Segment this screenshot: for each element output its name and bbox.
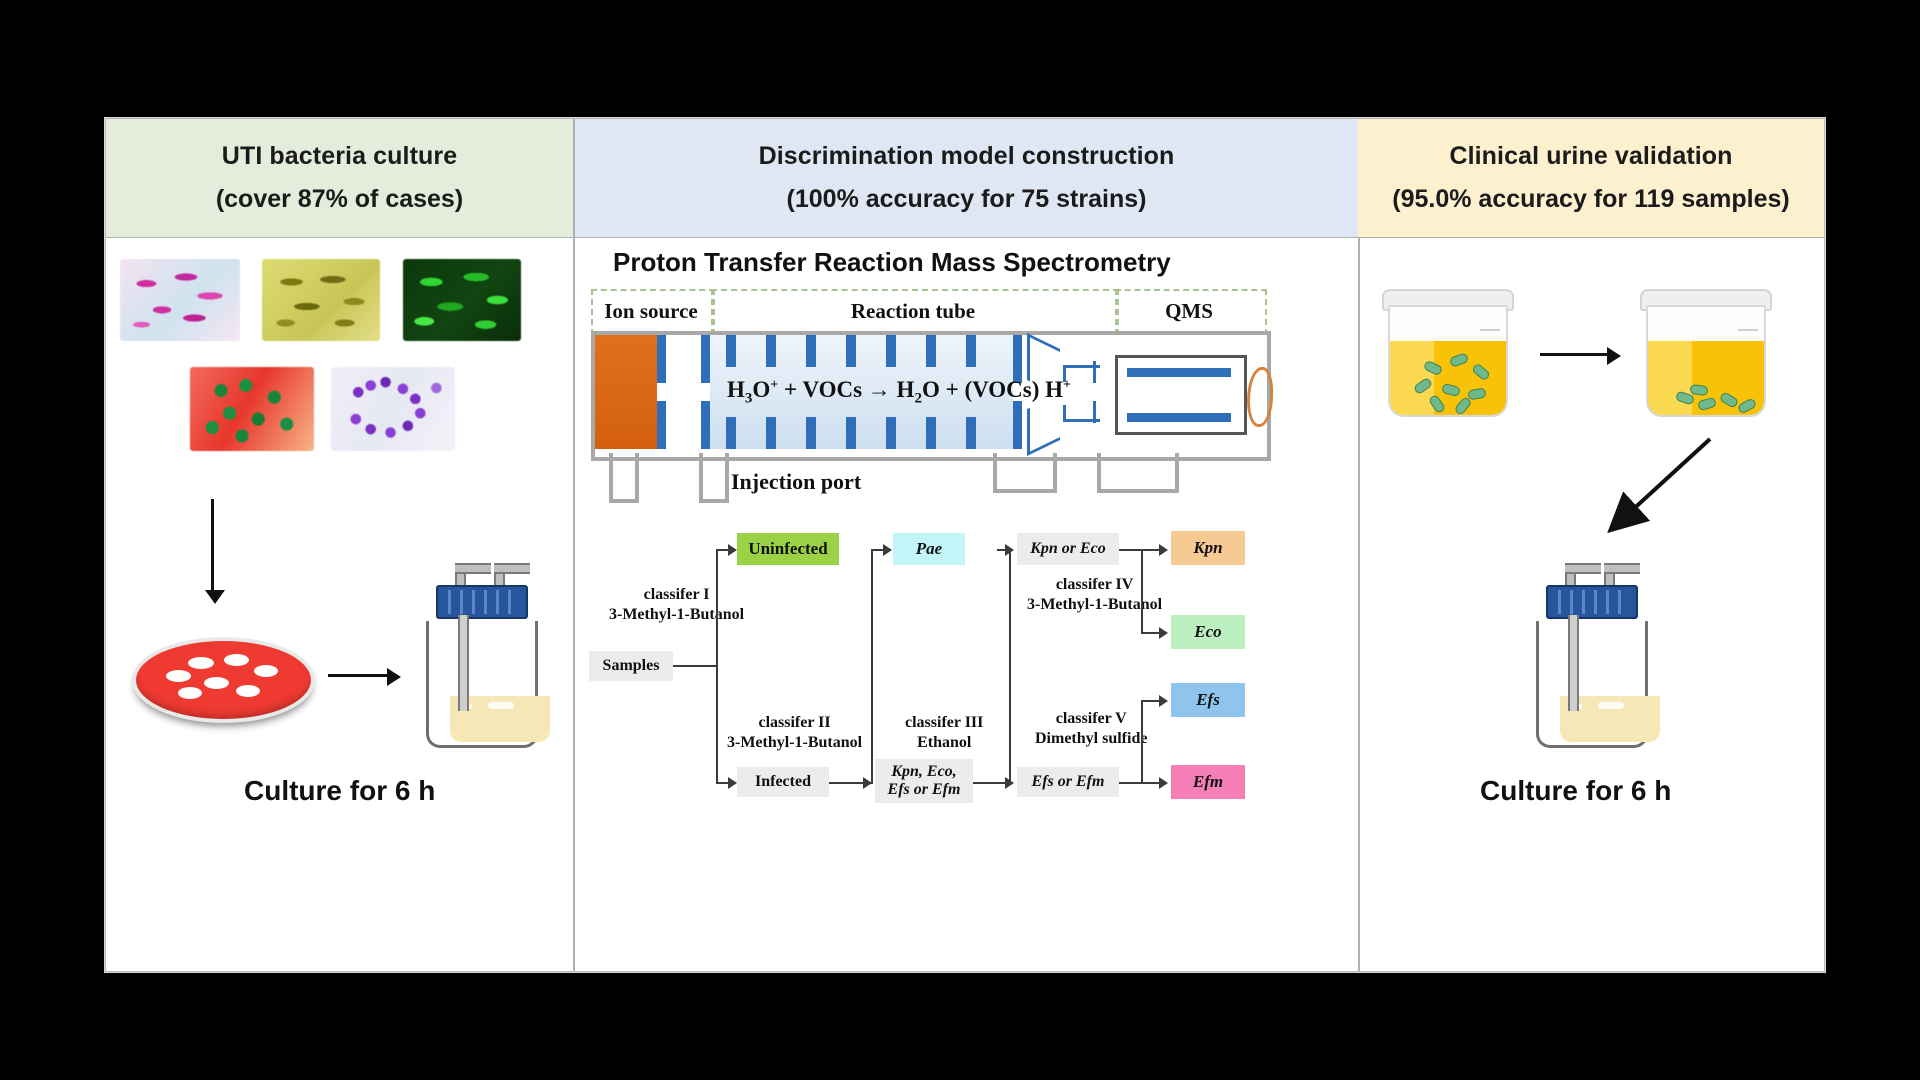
panel-discrimination-model: Discrimination model construction (100% … bbox=[573, 119, 1360, 971]
tree-node-group4-line1: Kpn, Eco, bbox=[891, 763, 956, 781]
gas-washing-bottle-left bbox=[408, 555, 550, 753]
edge-to-infected-arrow bbox=[728, 777, 737, 789]
lens-plate-lower bbox=[1093, 401, 1096, 423]
lens-plate-upper bbox=[1093, 361, 1096, 383]
edge-infected-split bbox=[871, 549, 873, 783]
panel-uti-bacteria-culture: UTI bacteria culture (cover 87% of cases… bbox=[106, 119, 573, 971]
tree-node-group4-line2: Efs or Efm bbox=[888, 781, 961, 799]
tree-node-efs-or-efm[interactable]: Efs or Efm bbox=[1017, 767, 1119, 797]
urine-fill bbox=[1390, 341, 1506, 415]
micrograph-green-cocci-on-red-bacteria bbox=[190, 367, 314, 451]
classifier-2-marker: 3-Methyl-1-Butanol bbox=[727, 734, 862, 751]
edge-efs-efm-split bbox=[1141, 700, 1143, 783]
bottle-cap bbox=[436, 585, 528, 619]
panel-mid-body: Proton Transfer Reaction Mass Spectromet… bbox=[575, 237, 1358, 971]
ptrms-title: Proton Transfer Reaction Mass Spectromet… bbox=[613, 247, 1171, 278]
zone-reaction-tube-label: Reaction tube bbox=[711, 299, 1115, 324]
urine-sample-cup-settled bbox=[1646, 289, 1766, 417]
bottle-cap-2 bbox=[1546, 585, 1638, 619]
tree-node-eco[interactable]: Eco bbox=[1171, 615, 1245, 649]
reaction-tube-exit-plate-lower bbox=[1013, 401, 1022, 449]
quadrupole-rod-lower bbox=[1127, 413, 1231, 422]
right-caption: Culture for 6 h bbox=[1480, 775, 1671, 807]
edge-to-uninfected-arrow bbox=[728, 544, 737, 556]
gas-washing-bottle-right bbox=[1518, 555, 1660, 753]
quadrupole-rod-upper bbox=[1127, 368, 1231, 377]
vacuum-pump-port-1 bbox=[609, 453, 639, 503]
panel-mid-title: Discrimination model construction bbox=[759, 142, 1175, 171]
classifier-1-name: classifer I bbox=[644, 586, 710, 603]
classifier-3-marker: Ethanol bbox=[917, 734, 971, 751]
reaction-tube-entrance-plate bbox=[701, 335, 710, 383]
micrograph-olive-rod-bacteria bbox=[262, 259, 380, 341]
tree-node-samples[interactable]: Samples bbox=[589, 651, 673, 681]
tree-node-group4[interactable]: Kpn, Eco, Efs or Efm bbox=[875, 759, 973, 803]
petri-dish bbox=[132, 637, 307, 715]
reaction-tube-entrance-plate-lower bbox=[701, 401, 710, 449]
edge-group4-split bbox=[1009, 549, 1011, 783]
classifier-2-name: classifer II bbox=[758, 714, 830, 731]
urine-sample-cup-full bbox=[1388, 289, 1508, 417]
quadrupole-box bbox=[1115, 355, 1247, 435]
classifier-5-label: classifer V Dimethyl sulfide bbox=[1035, 709, 1147, 749]
micrograph-purple-cocci-bacteria bbox=[331, 367, 455, 451]
tree-node-efm[interactable]: Efm bbox=[1171, 765, 1245, 799]
tree-node-kpn-or-eco[interactable]: Kpn or Eco bbox=[1017, 533, 1119, 565]
edge-to-efm-arrow bbox=[1159, 777, 1168, 789]
cup-vessel bbox=[1388, 305, 1508, 417]
classifier-5-name: classifer V bbox=[1056, 710, 1127, 727]
tree-node-efs[interactable]: Efs bbox=[1171, 683, 1245, 717]
classifier-1-marker: 3-Methyl-1-Butanol bbox=[609, 606, 744, 623]
panel-left-subtitle: (cover 87% of cases) bbox=[216, 185, 463, 214]
left-right-arrow bbox=[328, 674, 388, 677]
instrument-chamber: H3O+ + VOCs → H2O + (VOCs) H+ bbox=[591, 331, 1271, 461]
tree-node-infected[interactable]: Infected bbox=[737, 767, 829, 797]
ptr-reaction-equation: H3O+ + VOCs → H2O + (VOCs) H+ bbox=[727, 377, 1071, 408]
panel-right-header: Clinical urine validation (95.0% accurac… bbox=[1358, 119, 1824, 238]
right-transfer-arrow bbox=[1540, 353, 1608, 356]
classifier-3-name: classifer III bbox=[905, 714, 983, 731]
classifier-2-label: classifer II 3-Methyl-1-Butanol bbox=[727, 713, 862, 753]
panel-left-header: UTI bacteria culture (cover 87% of cases… bbox=[106, 119, 573, 238]
injection-port-tube bbox=[699, 453, 729, 503]
zone-qms-label: QMS bbox=[1115, 299, 1263, 324]
left-caption: Culture for 6 h bbox=[244, 775, 435, 807]
reaction-tube-exit-plate bbox=[1013, 335, 1022, 383]
panel-left-title: UTI bacteria culture bbox=[222, 142, 457, 171]
edge-to-pae-arrow bbox=[883, 544, 892, 556]
classifier-1-label: classifer I 3-Methyl-1-Butanol bbox=[609, 585, 744, 625]
classifier-3-label: classifer III Ethanol bbox=[905, 713, 983, 753]
ion-source-exit-plate-lower bbox=[657, 401, 666, 449]
panel-clinical-urine-validation: Clinical urine validation (95.0% accurac… bbox=[1358, 119, 1824, 971]
tree-node-pae[interactable]: Pae bbox=[893, 533, 965, 565]
tree-node-kpn[interactable]: Kpn bbox=[1171, 531, 1245, 565]
graphical-abstract-figure: UTI bacteria culture (cover 87% of cases… bbox=[105, 118, 1825, 972]
ion-source-block bbox=[595, 335, 657, 449]
vacuum-pump-port-2 bbox=[993, 453, 1057, 493]
panel-right-subtitle: (95.0% accuracy for 119 samples) bbox=[1392, 185, 1789, 214]
edge-to-eco-arrow bbox=[1159, 627, 1168, 639]
right-diagonal-arrow bbox=[1594, 433, 1724, 543]
tree-node-uninfected[interactable]: Uninfected bbox=[737, 533, 839, 565]
decision-tree: Samples Uninfected Infected Pae Kpn, Eco… bbox=[575, 523, 1358, 971]
panel-left-body: Culture for 6 h bbox=[106, 237, 573, 971]
edge-samples-out bbox=[673, 665, 717, 667]
edge-samples-split bbox=[716, 549, 718, 783]
edge-to-kpn-arrow bbox=[1159, 544, 1168, 556]
panel-right-title: Clinical urine validation bbox=[1449, 142, 1732, 171]
panel-mid-subtitle: (100% accuracy for 75 strains) bbox=[787, 185, 1147, 214]
injection-port-label: Injection port bbox=[731, 469, 861, 495]
micrograph-green-rod-bacteria bbox=[403, 259, 521, 341]
classifier-4-name: classifer IV bbox=[1056, 576, 1133, 593]
panel-right-body: Culture for 6 h bbox=[1358, 237, 1824, 971]
detector-filament-icon bbox=[1247, 367, 1273, 427]
panel-mid-header: Discrimination model construction (100% … bbox=[575, 119, 1358, 238]
vacuum-pump-port-3 bbox=[1097, 453, 1179, 493]
classifier-5-marker: Dimethyl sulfide bbox=[1035, 730, 1147, 747]
micrograph-magenta-rod-bacteria bbox=[120, 259, 240, 341]
left-down-arrow bbox=[211, 499, 214, 591]
edge-to-efs-arrow bbox=[1159, 695, 1168, 707]
edge-kpn-eco-split bbox=[1141, 549, 1143, 633]
ion-source-exit-plate bbox=[657, 335, 666, 383]
edge-to-kpn-or-eco-arrow bbox=[1005, 544, 1014, 556]
zone-ion-source-label: Ion source bbox=[591, 299, 711, 324]
